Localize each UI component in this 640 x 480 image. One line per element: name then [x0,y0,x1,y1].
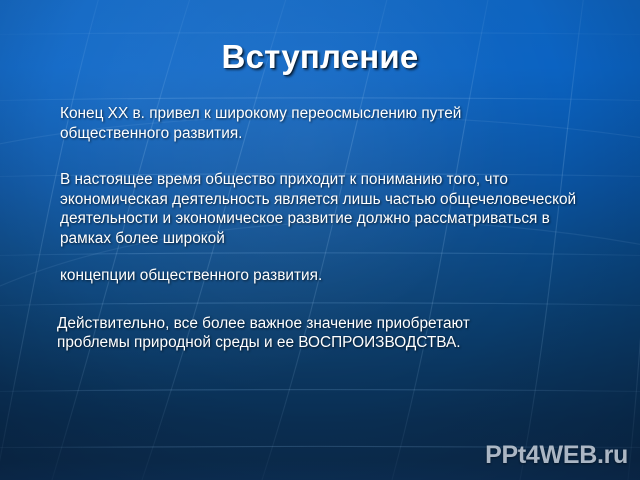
body-paragraph-3: концепции общественного развития. [44,266,604,286]
body-paragraph-2: В настоящее время общество приходит к по… [44,170,580,248]
body-paragraph-4: Действительно, все более важное значение… [44,314,532,353]
paragraph-spacer-2 [44,286,604,314]
slide-canvas: Вступление Конец XX в. привел к широкому… [0,0,640,480]
paragraph-spacer-1 [44,143,604,170]
slide-title: Вступление [0,38,640,76]
body-paragraph-1: Конец XX в. привел к широкому переосмысл… [44,104,565,143]
watermark-ppt4web: PPt4WEB.ru [485,441,628,470]
slide-body: Конец XX в. привел к широкому переосмысл… [44,104,604,353]
